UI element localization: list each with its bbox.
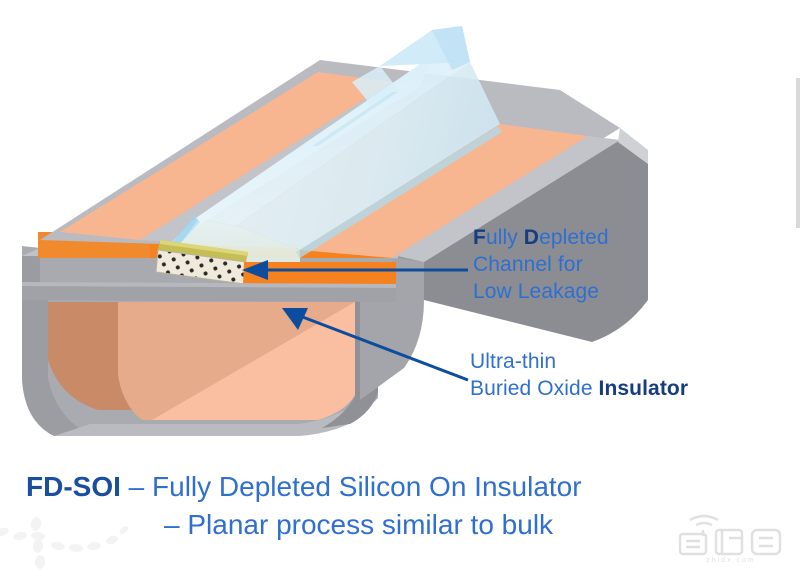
- right-edge-strip: [796, 78, 800, 228]
- callout-box-plain: Buried Oxide: [470, 377, 599, 400]
- callout-line-2: Channel for: [473, 251, 609, 278]
- watermark-logo: zhidx.com: [672, 508, 790, 564]
- callout-buried-oxide: Ultra-thin Buried Oxide Insulator: [470, 348, 688, 402]
- watermark-subtext: zhidx.com: [706, 557, 756, 564]
- callout-box-line-2: Buried Oxide Insulator: [470, 375, 688, 402]
- callout-line-1: Fully Depleted: [473, 224, 609, 251]
- corner-decoration: [0, 512, 170, 572]
- callout-line-3: Low Leakage: [473, 278, 609, 305]
- callout-fully-depleted-channel: Fully Depleted Channel for Low Leakage: [473, 224, 609, 305]
- caption-acronym: FD-SOI: [26, 471, 121, 502]
- callout-text-epleted: epleted: [539, 226, 609, 249]
- callout-text-ully: ully: [486, 226, 524, 249]
- callout-box-bold: Insulator: [599, 377, 689, 400]
- caption-line-1: – Fully Depleted Silicon On Insulator: [121, 471, 582, 502]
- callout-bold-f: F: [473, 226, 486, 249]
- figure-canvas: Fully Depleted Channel for Low Leakage U…: [0, 0, 800, 572]
- callout-bold-d: D: [524, 226, 539, 249]
- callout-box-line-1: Ultra-thin: [470, 348, 688, 375]
